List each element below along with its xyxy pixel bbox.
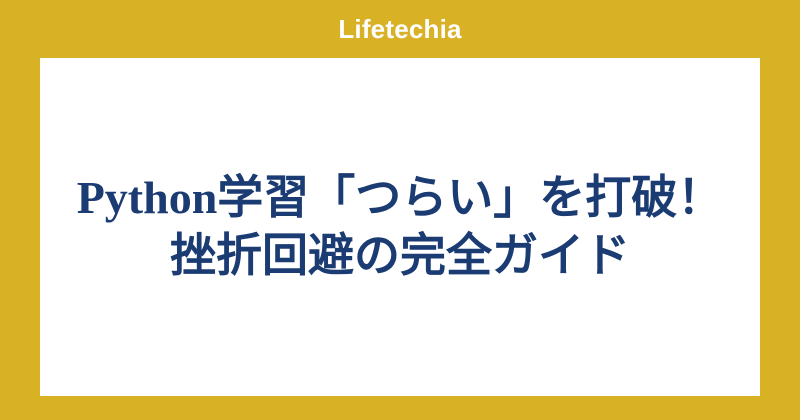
brand-header: Lifetechia	[0, 0, 800, 58]
headline-line-2: 挫折回避の完全ガイド	[77, 227, 724, 285]
headline: Python学習「つらい」を打破！ 挫折回避の完全ガイド	[65, 169, 736, 285]
brand-name: Lifetechia	[338, 16, 461, 42]
headline-card: Python学習「つらい」を打破！ 挫折回避の完全ガイド	[40, 58, 760, 396]
eyecatch-image: Lifetechia Python学習「つらい」を打破！ 挫折回避の完全ガイド	[0, 0, 800, 420]
headline-line-1: Python学習「つらい」を打破！	[77, 169, 724, 227]
